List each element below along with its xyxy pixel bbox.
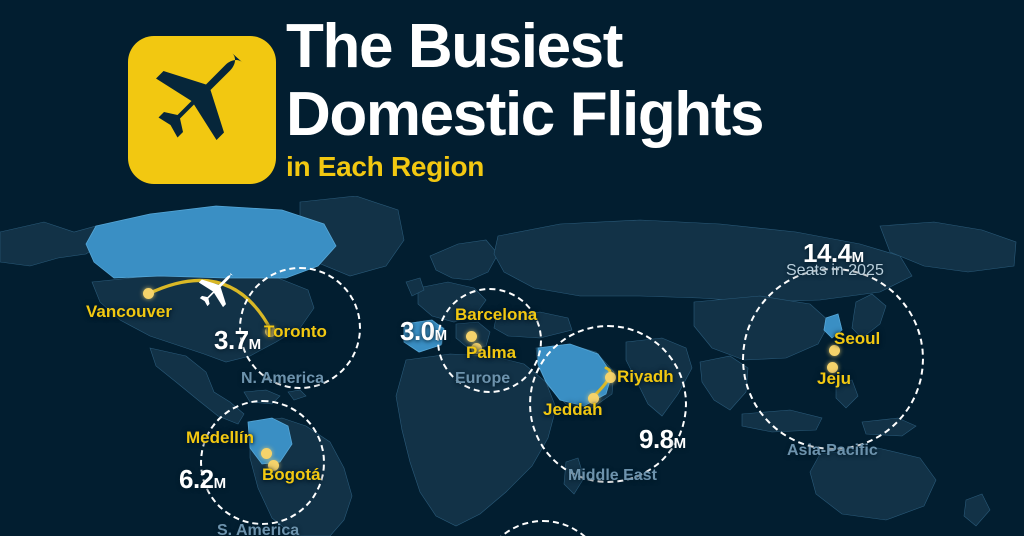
title-block: The Busiest Domestic Flights in Each Reg… — [286, 18, 1006, 182]
logo-badge — [128, 36, 276, 184]
infographic-canvas: The Busiest Domestic Flights in Each Reg… — [0, 0, 1024, 536]
airplane-icon — [142, 50, 262, 170]
world-map — [0, 196, 1024, 536]
page-title-line-2: Domestic Flights — [286, 86, 1006, 144]
world-map-svg — [0, 196, 1024, 536]
page-title-line-1: The Busiest — [286, 18, 1006, 76]
header: The Busiest Domestic Flights in Each Reg… — [0, 0, 1024, 196]
page-subtitle: in Each Region — [286, 152, 1006, 182]
